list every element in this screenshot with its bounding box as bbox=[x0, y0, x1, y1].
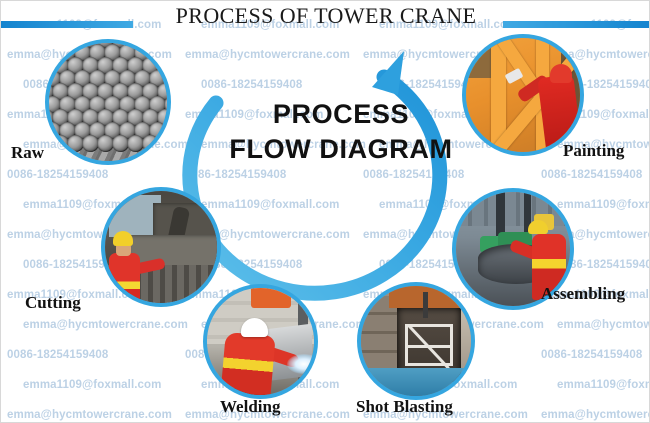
page-title: PROCESS OF TOWER CRANE bbox=[1, 3, 650, 29]
steel-pipes-photo bbox=[45, 39, 171, 165]
watermark-line: 0086-182541594080086-182541594080086-182… bbox=[1, 169, 649, 181]
header: PROCESS OF TOWER CRANE bbox=[1, 1, 650, 35]
watermark-line: emma@hycmtowercrane.comemma@hycmtowercra… bbox=[1, 409, 649, 421]
shot-blasting-photo bbox=[357, 282, 475, 400]
center-caption-line1: PROCESS bbox=[191, 97, 491, 132]
node-label-assembling: Assembling bbox=[541, 284, 625, 304]
welding-photo bbox=[203, 284, 318, 399]
center-caption: PROCESS FLOW DIAGRAM bbox=[191, 97, 491, 167]
watermark-line: 0086-182541594080086-182541594080086-182… bbox=[1, 349, 649, 361]
node-label-raw: Raw bbox=[11, 143, 44, 163]
process-flow-diagram: emma1109@foxmall.comemma1109@foxmall.com… bbox=[0, 0, 650, 423]
node-label-shot-blasting: Shot Blasting bbox=[356, 397, 453, 417]
painting-photo bbox=[462, 34, 584, 156]
node-label-welding: Welding bbox=[220, 397, 280, 417]
pipe-end bbox=[157, 135, 171, 152]
watermark-line: emma1109@foxmall.comemma1109@foxmall.com… bbox=[1, 379, 649, 391]
cutting-machine-photo bbox=[101, 187, 221, 307]
node-label-painting: Painting bbox=[563, 141, 624, 161]
node-label-cutting: Cutting bbox=[25, 293, 81, 313]
watermark-line: emma@hycmtowercrane.comemma@hycmtowercra… bbox=[1, 319, 649, 331]
center-caption-line2: FLOW DIAGRAM bbox=[191, 132, 491, 167]
